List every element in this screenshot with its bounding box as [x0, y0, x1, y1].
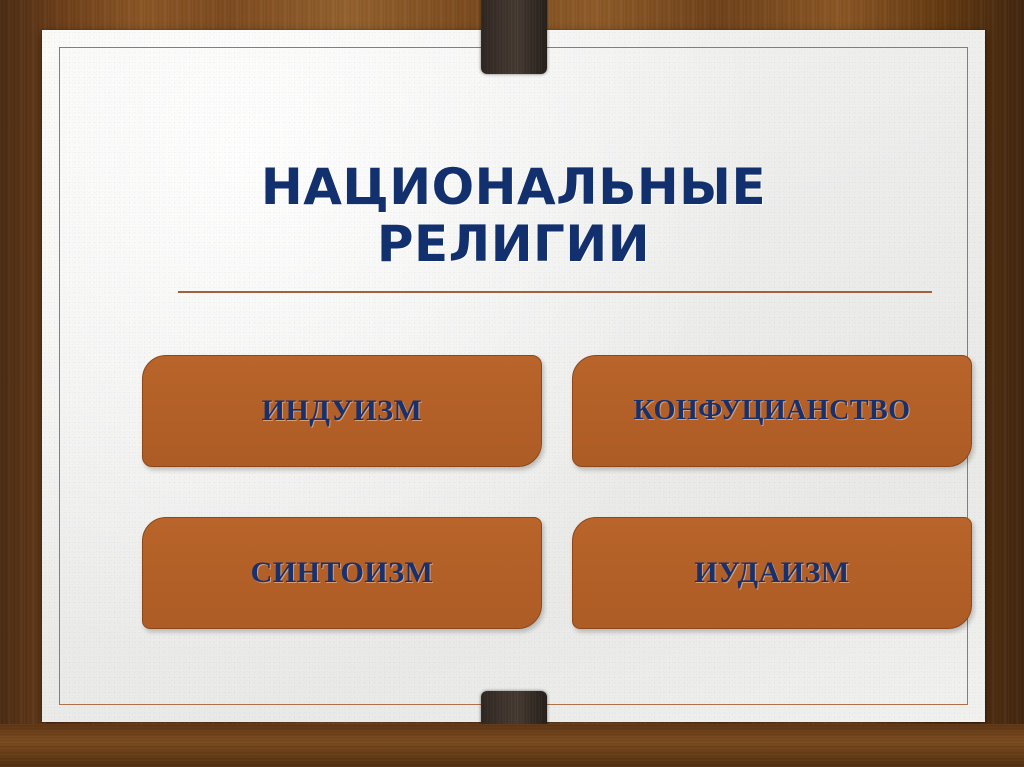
card-judaism[interactable]: ИУДАИЗМ	[572, 517, 972, 629]
slide-title: НАЦИОНАЛЬНЫЕ РЕЛИГИИ	[42, 159, 985, 273]
card-row-1: ИНДУИЗМ КОНФУЦИАНСТВО	[142, 355, 972, 467]
presentation-board: НАЦИОНАЛЬНЫЕ РЕЛИГИИ ИНДУИЗМ КОНФУЦИАНСТ…	[42, 30, 985, 722]
binder-strap-top-icon	[481, 0, 547, 74]
card-confucianism[interactable]: КОНФУЦИАНСТВО	[572, 355, 972, 467]
slide-stage: НАЦИОНАЛЬНЫЕ РЕЛИГИИ ИНДУИЗМ КОНФУЦИАНСТ…	[0, 0, 1024, 767]
binder-strap-bottom-icon	[481, 691, 547, 767]
card-row-2: СИНТОИЗМ ИУДАИЗМ	[142, 517, 972, 629]
card-hinduism[interactable]: ИНДУИЗМ	[142, 355, 542, 467]
card-shinto-label: СИНТОИЗМ	[251, 556, 434, 590]
religion-card-grid: ИНДУИЗМ КОНФУЦИАНСТВО СИНТОИЗМ ИУДАИЗМ	[142, 355, 972, 629]
card-confucianism-label: КОНФУЦИАНСТВО	[633, 395, 910, 427]
card-shinto[interactable]: СИНТОИЗМ	[142, 517, 542, 629]
title-divider-rule	[178, 291, 932, 293]
card-hinduism-label: ИНДУИЗМ	[262, 394, 423, 428]
card-judaism-label: ИУДАИЗМ	[694, 556, 850, 590]
